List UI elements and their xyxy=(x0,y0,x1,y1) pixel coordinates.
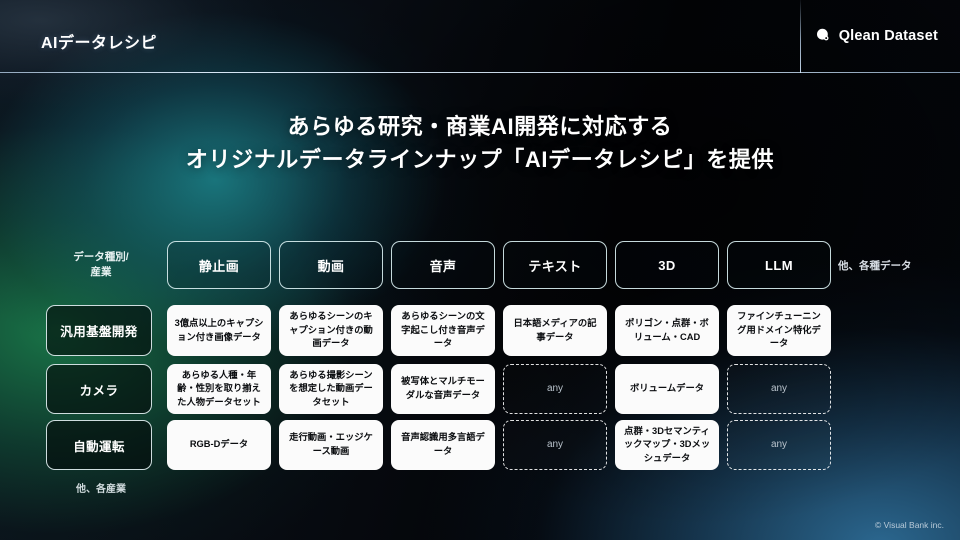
matrix-cell-r3-c4[interactable]: any xyxy=(503,420,607,470)
matrix-cell-r1-c3[interactable]: あらゆるシーンの文字起こし付き音声データ xyxy=(391,305,495,356)
matrix-cell-r2-c4[interactable]: any xyxy=(503,364,607,414)
column-header-4[interactable]: テキスト xyxy=(503,241,607,289)
row-header-2[interactable]: カメラ xyxy=(46,364,152,414)
matrix-cell-r1-c2[interactable]: あらゆるシーンのキャプション付きの動画データ xyxy=(279,305,383,356)
column-header-6[interactable]: LLM xyxy=(727,241,831,289)
matrix-cell-r2-c2[interactable]: あらゆる撮影シーンを想定した動画データセット xyxy=(279,364,383,414)
copyright-text: © Visual Bank inc. xyxy=(875,520,944,530)
slide-canvas: AIデータレシピ Qlean Dataset あらゆる研究・商業AI開発に対応す… xyxy=(0,0,960,540)
matrix-cell-r3-c3[interactable]: 音声認識用多言語データ xyxy=(391,420,495,470)
matrix-cell-r1-c1[interactable]: 3億点以上のキャプション付き画像データ xyxy=(167,305,271,356)
matrix-cell-r2-c6[interactable]: any xyxy=(727,364,831,414)
matrix-cell-r1-c4[interactable]: 日本語メディアの記事データ xyxy=(503,305,607,356)
row-header-3[interactable]: 自動運転 xyxy=(46,420,152,470)
matrix-cell-r2-c5[interactable]: ボリュームデータ xyxy=(615,364,719,414)
matrix-row-note: 他、各産業 xyxy=(41,480,161,495)
column-header-1[interactable]: 静止画 xyxy=(167,241,271,289)
matrix-axis-label-line-2: 産業 xyxy=(91,266,112,278)
row-header-1[interactable]: 汎用基盤開発 xyxy=(46,305,152,356)
matrix-cell-r3-c2[interactable]: 走行動画・エッジケース動画 xyxy=(279,420,383,470)
matrix-cell-r1-c6[interactable]: ファインチューニング用ドメイン特化データ xyxy=(727,305,831,356)
column-header-2[interactable]: 動画 xyxy=(279,241,383,289)
matrix-axis-label-line-1: データ種別/ xyxy=(73,251,128,263)
matrix-cell-r2-c1[interactable]: あらゆる人種・年齢・性別を取り揃えた人物データセット xyxy=(167,364,271,414)
matrix-cell-r3-c5[interactable]: 点群・3Dセマンティックマップ・3Dメッシュデータ xyxy=(615,420,719,470)
column-header-5[interactable]: 3D xyxy=(615,241,719,289)
matrix-column-note: 他、各種データ xyxy=(838,258,948,273)
matrix-cell-r1-c5[interactable]: ポリゴン・点群・ボリューム・CAD xyxy=(615,305,719,356)
matrix-cell-r3-c1[interactable]: RGB-Dデータ xyxy=(167,420,271,470)
matrix-cell-r2-c3[interactable]: 被写体とマルチモーダルな音声データ xyxy=(391,364,495,414)
matrix-cell-r3-c6[interactable]: any xyxy=(727,420,831,470)
data-matrix: データ種別/ 産業 他、各産業 他、各種データ 静止画動画音声テキスト3DLLM… xyxy=(0,0,960,540)
matrix-axis-label: データ種別/ 産業 xyxy=(41,250,161,280)
column-header-3[interactable]: 音声 xyxy=(391,241,495,289)
